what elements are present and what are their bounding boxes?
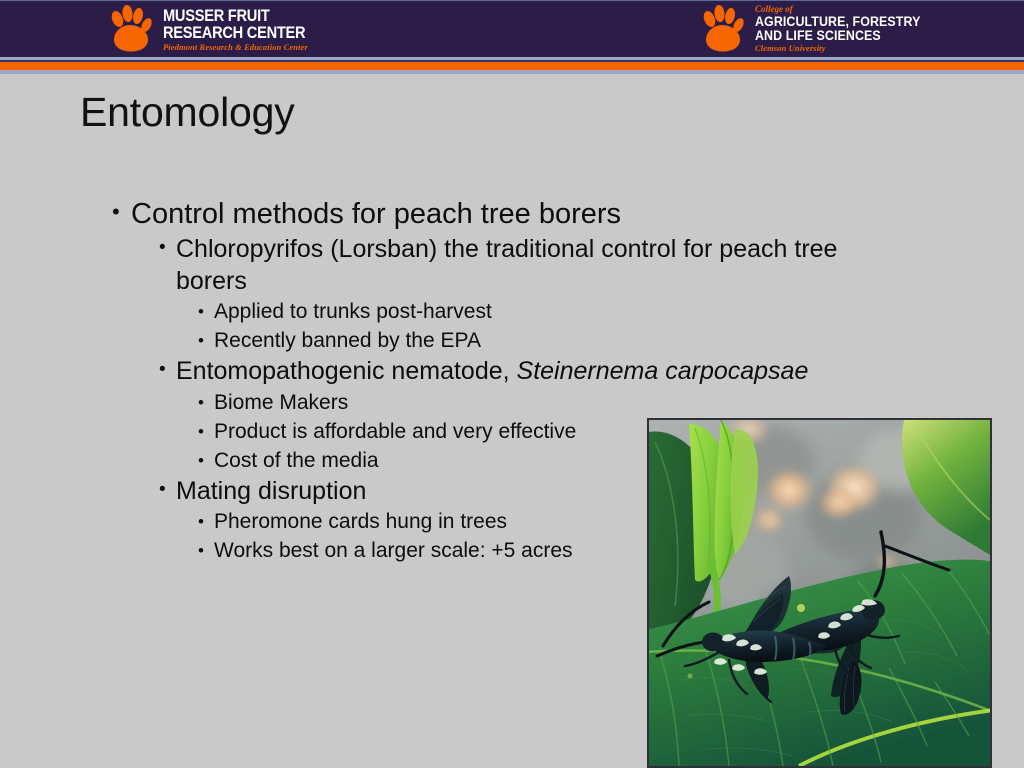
bullet-text: Control methods for peach tree borers — [131, 196, 891, 233]
bullet-glyph-icon: • — [159, 356, 176, 384]
bullet-text: Applied to trunks post-harvest — [214, 298, 912, 326]
bullet-text-plain: Entomopathogenic nematode, — [176, 357, 517, 385]
peach-tree-borer-moths-photo — [647, 418, 992, 768]
bullet-item-level1: • Control methods for peach tree borers — [112, 196, 912, 233]
bullet-text: Chloropyrifos (Lorsban) the traditional … — [176, 234, 848, 297]
logo-right-line1: AGRICULTURE, FORESTRY — [755, 15, 920, 29]
scientific-name: Steinernema carpocapsae — [517, 357, 809, 385]
bullet-text: Biome Makers — [214, 389, 912, 417]
logo-left-subtitle: Piedmont Research & Education Center — [163, 43, 329, 52]
bullet-glyph-icon: • — [159, 234, 176, 262]
logo-left-line1: MUSSER FRUIT — [163, 7, 305, 24]
logo-right-kicker: College of — [755, 5, 935, 14]
bullet-item-level2: • Entomopathogenic nematode, Steinernema… — [159, 356, 912, 388]
bullet-glyph-icon: • — [198, 418, 214, 445]
bullet-glyph-icon: • — [198, 537, 214, 564]
logo-right-subtitle: Clemson University — [755, 44, 935, 53]
clemson-paw-icon — [108, 5, 154, 53]
bullet-item-level2: • Chloropyrifos (Lorsban) the traditiona… — [159, 234, 912, 297]
logo-left-line2: RESEARCH CENTER — [163, 24, 305, 41]
bullet-item-level3: • Recently banned by the EPA — [198, 327, 912, 355]
bullet-glyph-icon: • — [112, 196, 131, 228]
bullet-glyph-icon: • — [198, 508, 214, 535]
logo-left-text: MUSSER FRUIT RESEARCH CENTER Piedmont Re… — [163, 7, 329, 52]
logo-right-line2: AND LIFE SCIENCES — [755, 29, 920, 43]
photo-canvas — [649, 420, 990, 766]
bullet-glyph-icon: • — [159, 476, 176, 504]
page-title: Entomology — [80, 89, 295, 136]
bullet-glyph-icon: • — [198, 447, 214, 474]
bullet-text: Entomopathogenic nematode, Steinernema c… — [176, 356, 848, 388]
musser-fruit-research-center-logo: MUSSER FRUIT RESEARCH CENTER Piedmont Re… — [108, 4, 329, 54]
clemson-paw-icon — [700, 5, 746, 53]
header-stripe-lavender-bottom — [0, 70, 1024, 74]
logo-right-text: College of AGRICULTURE, FORESTRY AND LIF… — [755, 5, 935, 53]
bullet-text: Recently banned by the EPA — [214, 327, 912, 355]
header-stripe-orange — [0, 62, 1024, 70]
slide-canvas: MUSSER FRUIT RESEARCH CENTER Piedmont Re… — [0, 0, 1024, 768]
bullet-glyph-icon: • — [198, 389, 214, 416]
bullet-item-level3: • Biome Makers — [198, 389, 912, 417]
clemson-cafls-logo: College of AGRICULTURE, FORESTRY AND LIF… — [700, 4, 935, 54]
bullet-glyph-icon: • — [198, 327, 214, 354]
bullet-glyph-icon: • — [198, 298, 214, 325]
bullet-item-level3: • Applied to trunks post-harvest — [198, 298, 912, 326]
